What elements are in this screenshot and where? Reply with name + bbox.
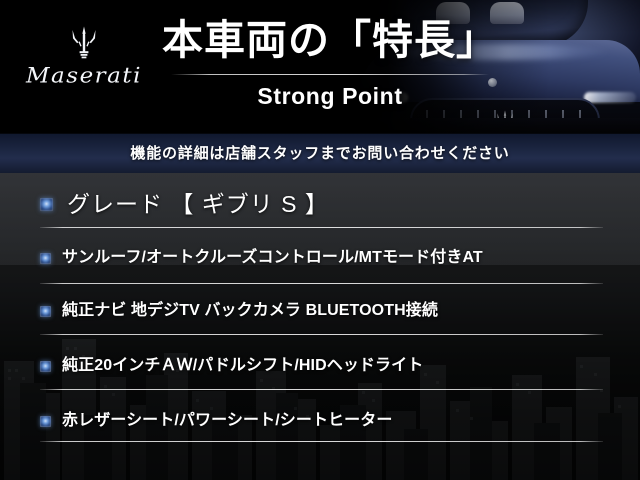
list-item-seats: 赤レザーシート/パワーシート/シートヒーター bbox=[40, 411, 603, 431]
page-subtitle: Strong Point bbox=[150, 83, 510, 109]
list-item-sunroof: サンルーフ/オートクルーズコントロール/MTモード付きAT bbox=[40, 248, 603, 268]
hero-header: Maserati 本車両の「特長」 Strong Point bbox=[0, 0, 640, 133]
notice-band: 機能の詳細は店舗スタッフまでお問い合わせください bbox=[0, 133, 640, 173]
list-divider bbox=[40, 227, 603, 228]
list-item-wheels: 純正20インチＡＷ/パドルシフト/HIDヘッドライト bbox=[40, 356, 603, 376]
list-item-label: 純正20インチＡＷ/パドルシフト/HIDヘッドライト bbox=[62, 356, 423, 376]
promo-banner: Maserati 本車両の「特長」 Strong Point 機能の詳細は店舗ス… bbox=[0, 0, 640, 480]
title-rule bbox=[171, 74, 489, 75]
list-item-label: 赤レザーシート/パワーシート/シートヒーター bbox=[62, 411, 392, 431]
list-item-label: 純正ナビ 地デジTV バックカメラ BLUETOOTH接続 bbox=[62, 301, 438, 321]
blue-square-bullet-icon bbox=[40, 306, 51, 317]
list-item-label: サンルーフ/オートクルーズコントロール/MTモード付きAT bbox=[62, 248, 483, 268]
blue-square-bullet-icon bbox=[40, 198, 53, 211]
blue-square-bullet-icon bbox=[40, 361, 51, 372]
list-item-grade: グレード 【 ギブリ S 】 bbox=[40, 190, 603, 218]
body-darken-overlay bbox=[0, 173, 640, 480]
list-item-navigation: 純正ナビ 地デジTV バックカメラ BLUETOOTH接続 bbox=[40, 301, 603, 321]
list-item-label: グレード 【 ギブリ S 】 bbox=[67, 190, 329, 218]
maserati-wordmark: Maserati bbox=[14, 64, 154, 88]
maserati-trident-icon bbox=[14, 26, 154, 60]
maserati-logo: Maserati bbox=[14, 26, 154, 89]
page-title: 本車両の「特長」 bbox=[150, 16, 510, 64]
list-divider bbox=[40, 334, 603, 335]
blue-square-bullet-icon bbox=[40, 416, 51, 427]
notice-text: 機能の詳細は店舗スタッフまでお問い合わせください bbox=[130, 145, 509, 163]
list-divider bbox=[40, 283, 603, 284]
hero-title-block: 本車両の「特長」 Strong Point bbox=[150, 16, 510, 109]
list-divider bbox=[40, 389, 603, 390]
blue-square-bullet-icon bbox=[40, 253, 51, 264]
feature-list-section: グレード 【 ギブリ S 】 サンルーフ/オートクルーズコントロール/MTモード… bbox=[0, 173, 640, 480]
list-divider bbox=[40, 441, 603, 442]
